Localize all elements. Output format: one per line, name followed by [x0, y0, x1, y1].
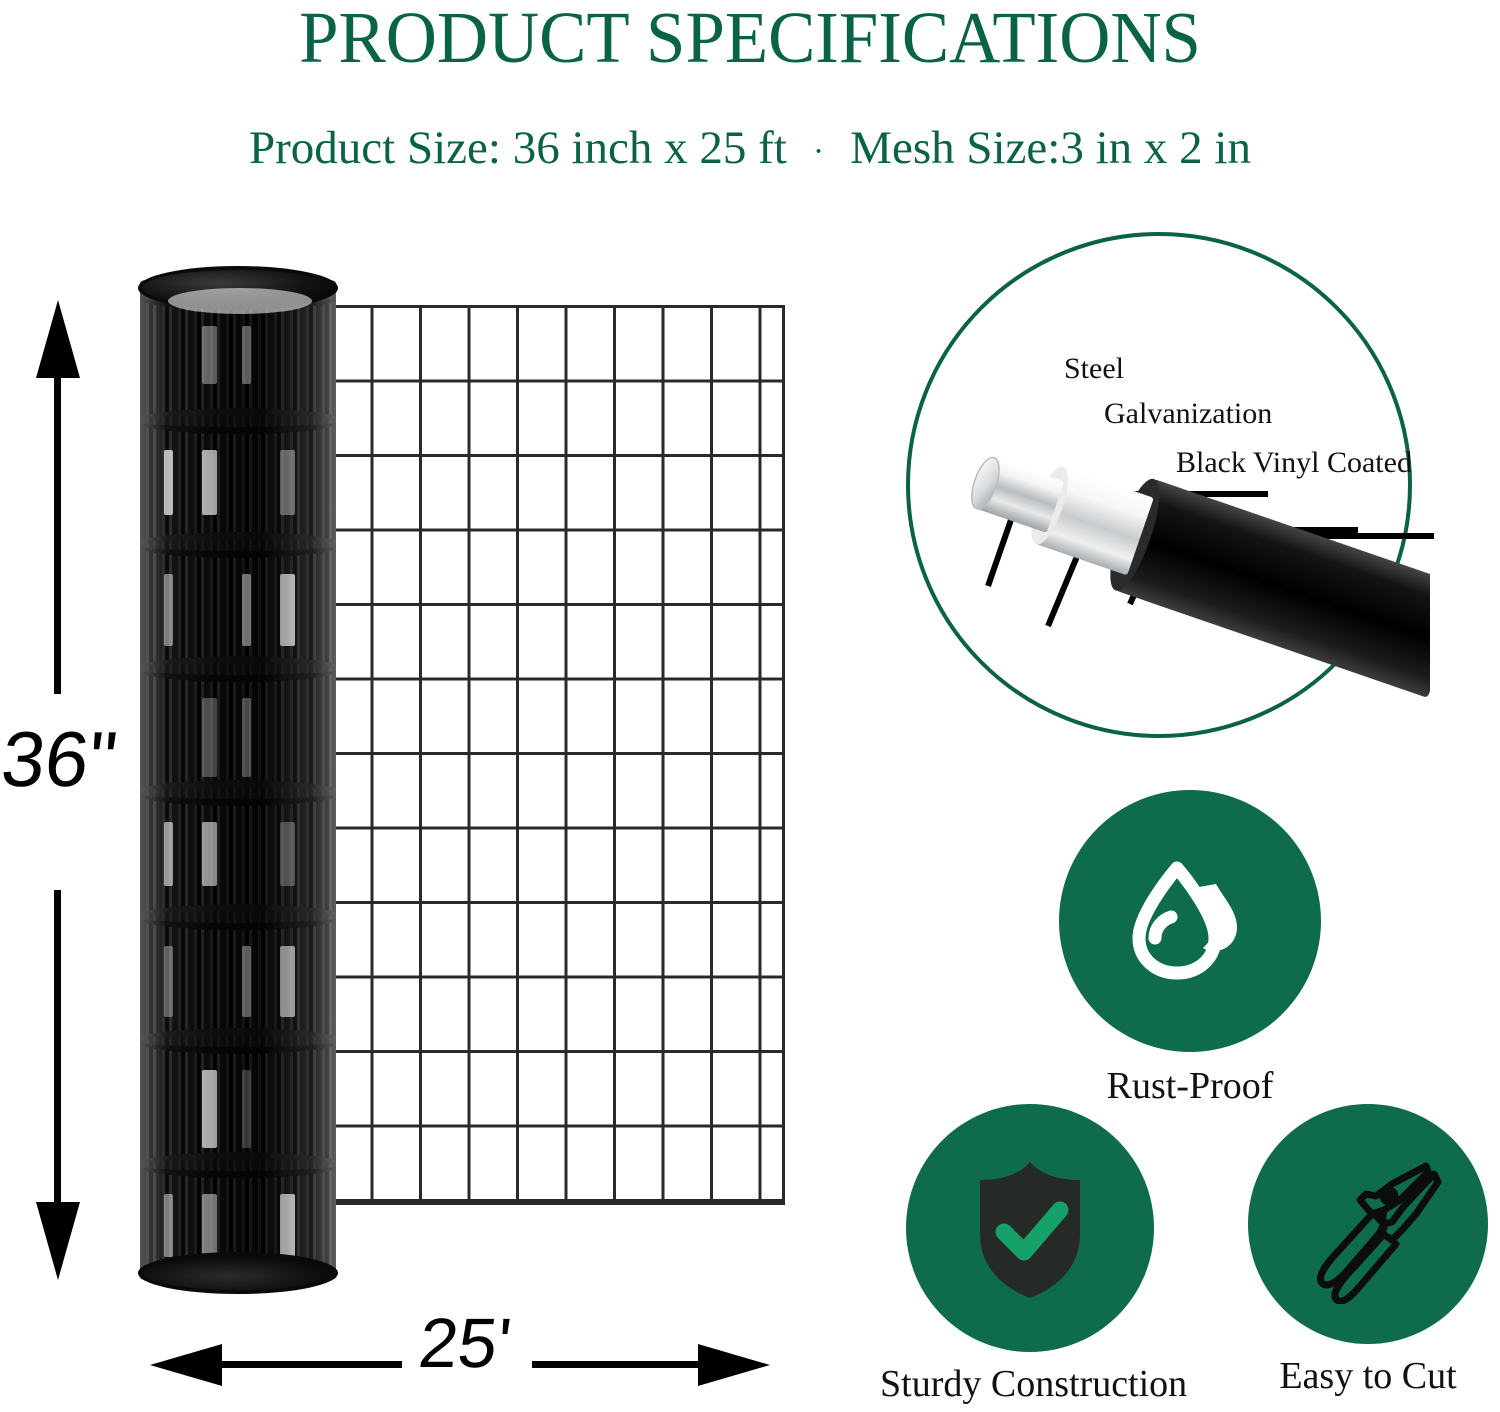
water-drop-icon: [1115, 846, 1265, 996]
page-title: PRODUCT SPECIFICATIONS: [23, 0, 1478, 78]
roll-bottom-ellipse: [138, 1252, 338, 1294]
label-galvanization: Galvanization: [1104, 397, 1272, 431]
roll-horizontal-wires: [140, 280, 336, 1280]
shield-check-icon: [954, 1152, 1106, 1304]
mesh-size-label: Mesh Size:3 in x 2 in: [850, 122, 1251, 174]
width-dimension: 25': [150, 1330, 770, 1400]
product-size-label: Product Size: 36 inch x 25 ft: [249, 122, 787, 174]
rust-proof-disc: [1059, 790, 1321, 1052]
wire-mesh-sheet: [322, 305, 785, 1205]
label-steel: Steel: [1064, 352, 1124, 386]
roll-top-opening: [168, 288, 312, 314]
subtitle-separator: ·: [787, 133, 850, 170]
sturdy-construction-label: Sturdy Construction: [880, 1362, 1180, 1406]
height-dimension: 36": [24, 300, 92, 1280]
feature-rust-proof: Rust-Proof: [1040, 790, 1340, 1108]
width-value: 25': [401, 1308, 528, 1378]
spec-subtitle: Product Size: 36 inch x 25 ft·Mesh Size:…: [0, 120, 1500, 180]
easy-to-cut-label: Easy to Cut: [1248, 1354, 1488, 1398]
height-value: 36": [0, 720, 118, 798]
pliers-icon: [1288, 1144, 1448, 1304]
wire-fence-roll: [140, 258, 336, 1296]
feature-sturdy-construction: Sturdy Construction: [880, 1104, 1180, 1406]
rust-proof-label: Rust-Proof: [1040, 1064, 1340, 1108]
wire-layers: [956, 450, 1430, 698]
roll-top-ellipse: [138, 266, 338, 310]
easy-to-cut-disc: [1248, 1104, 1488, 1344]
feature-easy-to-cut: Easy to Cut: [1248, 1104, 1488, 1398]
product-spec-infographic: PRODUCT SPECIFICATIONS Product Size: 36 …: [0, 0, 1500, 1412]
sturdy-construction-disc: [906, 1104, 1154, 1352]
wire-cross-section-illustration: [930, 450, 1430, 750]
